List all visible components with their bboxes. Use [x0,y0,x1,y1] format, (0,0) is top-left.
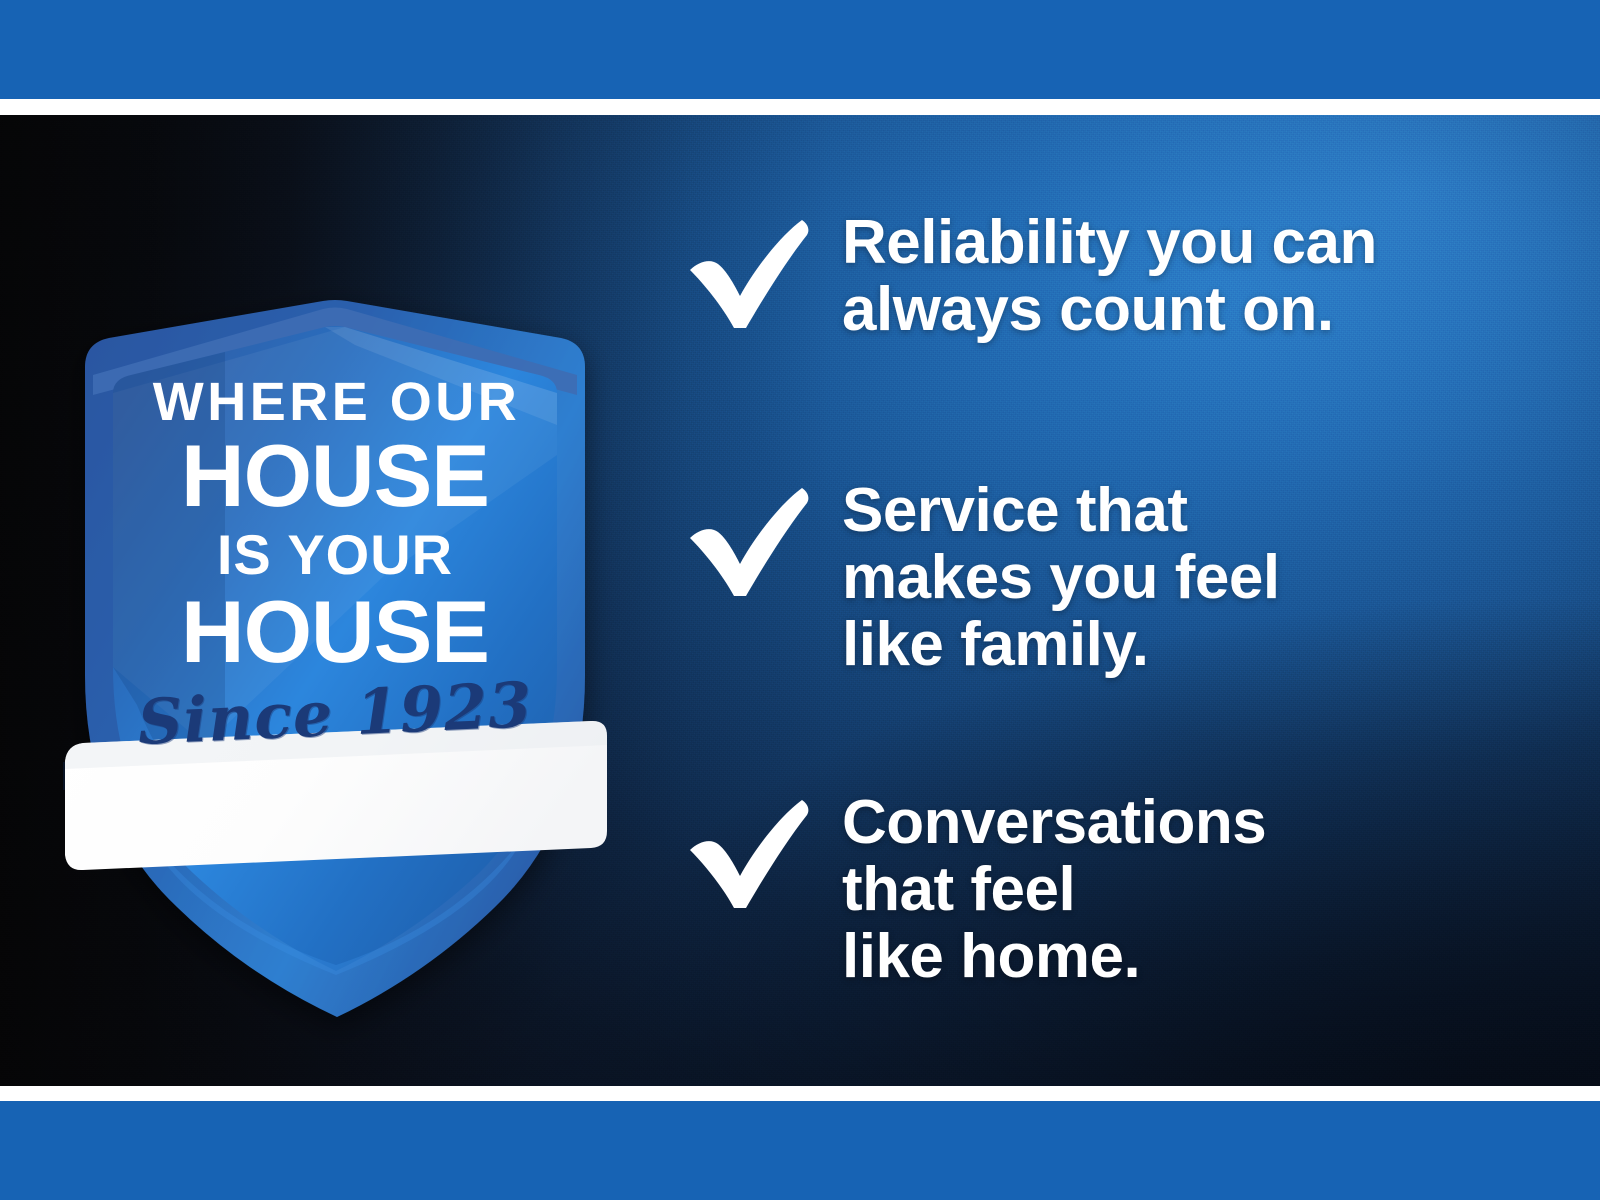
list-item: Service that makes you feel like family. [676,478,1536,679]
shield-graphic [55,275,615,1065]
list-item-text: Reliability you can always count on. [842,210,1536,344]
list-item: Reliability you can always count on. [676,210,1536,344]
top-brand-bar [0,0,1600,99]
list-item-text: Service that makes you feel like family. [842,478,1536,679]
list-item: Conversations that feel like home. [676,790,1536,991]
since-ribbon [65,721,607,870]
checkmark-icon [676,790,816,910]
checkmark-icon [676,210,816,330]
artwork-canvas: WHERE OUR HOUSE IS YOUR HOUSE Since 1923… [0,115,1600,1086]
checkmark-icon [676,478,816,598]
promo-graphic: WHERE OUR HOUSE IS YOUR HOUSE Since 1923… [0,0,1600,1200]
list-item-text: Conversations that feel like home. [842,790,1536,991]
bottom-brand-bar [0,1101,1600,1200]
company-logo: WHERE OUR HOUSE IS YOUR HOUSE Since 1923 [55,275,615,1065]
